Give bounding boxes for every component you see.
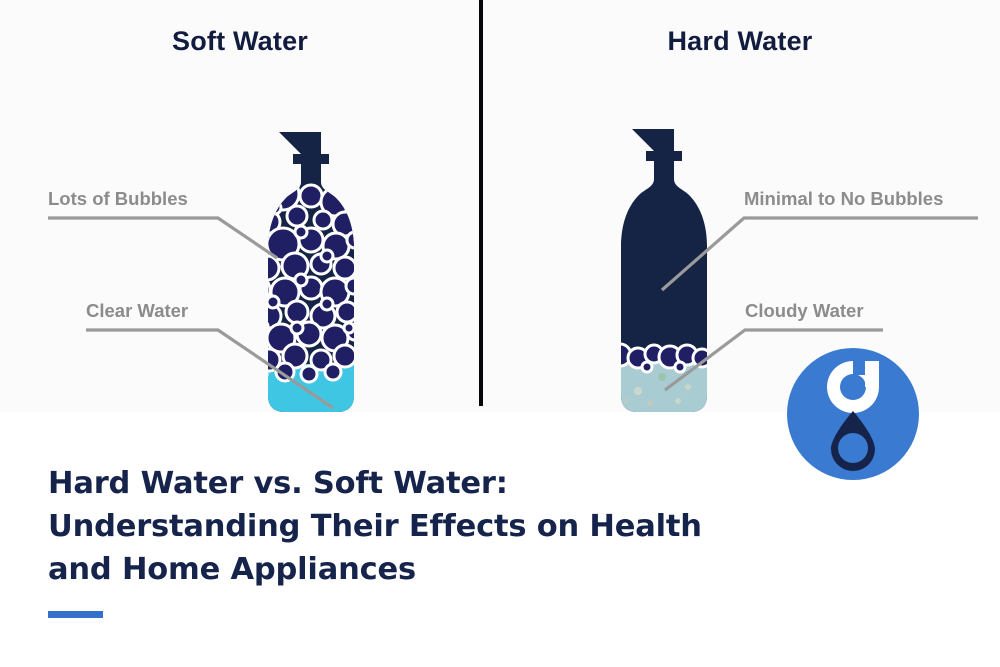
accent-bar	[48, 611, 103, 618]
page-title: Hard Water vs. Soft Water: Understanding…	[48, 462, 748, 591]
callout-clear-water: Clear Water	[0, 300, 300, 410]
callout-minimal-to-no-bubbles-leader	[640, 188, 1000, 298]
callout-clear-water-leader	[0, 300, 330, 420]
headline-line-2: Understanding Their Effects on Health	[48, 505, 748, 548]
hard-water-heading: Hard Water	[480, 26, 1000, 57]
soft-water-heading: Soft Water	[0, 26, 480, 57]
infographic-panel: Soft Water Hard Water	[0, 0, 1000, 412]
callout-lots-of-bubbles: Lots of Bubbles	[0, 188, 300, 268]
vertical-divider	[479, 0, 483, 406]
headline-line-3: and Home Appliances	[48, 548, 748, 591]
headline-block: Hard Water vs. Soft Water: Understanding…	[48, 462, 748, 618]
headline-line-1: Hard Water vs. Soft Water:	[48, 462, 748, 505]
brand-logo	[787, 348, 919, 480]
callout-minimal-to-no-bubbles: Minimal to No Bubbles	[640, 188, 1000, 298]
callout-lots-of-bubbles-leader	[0, 188, 300, 268]
